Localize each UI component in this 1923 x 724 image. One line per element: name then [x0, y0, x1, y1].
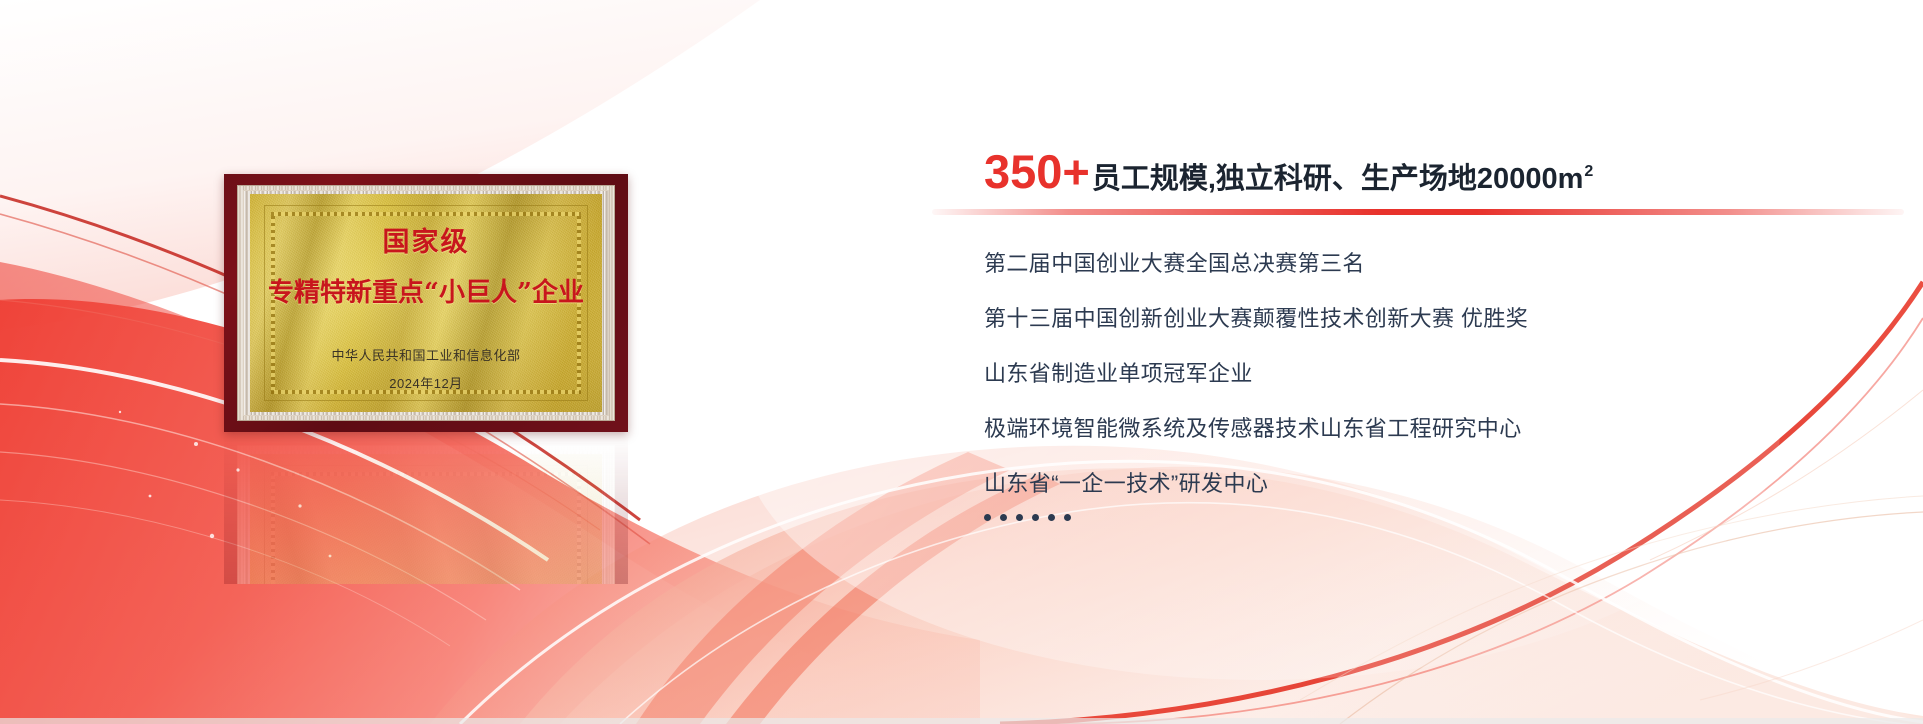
honors-text-column: 350+ 员工规模,独立科研、生产场地20000m 2 第二届中国创业大赛全国总… — [984, 148, 1884, 521]
ellipsis-dot — [1064, 514, 1071, 521]
reflection-gold-plate — [250, 454, 602, 584]
reflection-outer-frame — [224, 434, 628, 584]
list-item: 山东省制造业单项冠军企业 — [984, 363, 1884, 385]
headline: 350+ 员工规模,独立科研、生产场地20000m 2 — [984, 148, 1884, 195]
list-item: 第二届中国创业大赛全国总决赛第三名 — [984, 253, 1884, 275]
list-item: 第十三届中国创新创业大赛颠覆性技术创新大赛 优胜奖 — [984, 308, 1884, 330]
plaque-title-line-2: 专精特新重点“小巨人”企业 — [268, 272, 584, 309]
headline-underline-rule — [932, 209, 1904, 215]
ellipsis-dot — [1000, 514, 1007, 521]
ellipsis-dot — [984, 514, 991, 521]
achievement-list-ellipsis — [984, 514, 1884, 521]
headline-superscript: 2 — [1584, 163, 1593, 181]
achievement-list: 第二届中国创业大赛全国总决赛第三名 第十三届中国创新创业大赛颠覆性技术创新大赛 … — [984, 253, 1884, 495]
reflection-silver-border — [237, 445, 615, 584]
honors-banner: 国家级 专精特新重点“小巨人”企业 中华人民共和国工业和信息化部 2024年12… — [0, 0, 1923, 724]
ellipsis-dot — [1016, 514, 1023, 521]
reflection-gold-texture — [250, 454, 602, 584]
headline-metric-text: 员工规模,独立科研、生产场地20000m — [1092, 165, 1584, 194]
ellipsis-dot — [1032, 514, 1039, 521]
plaque-reflection — [224, 434, 628, 584]
headline-metric-number: 350+ — [984, 148, 1090, 195]
list-item: 山东省“一企一技术”研发中心 — [984, 473, 1884, 495]
reflection-inner-border — [264, 465, 588, 584]
plaque-date: 2024年12月 — [389, 373, 462, 392]
plaque-issuer: 中华人民共和国工业和信息化部 — [331, 345, 520, 364]
plaque-title-line-1: 国家级 — [383, 220, 470, 259]
list-item: 极端环境智能微系统及传感器技术山东省工程研究中心 — [984, 418, 1884, 440]
award-plaque: 国家级 专精特新重点“小巨人”企业 中华人民共和国工业和信息化部 2024年12… — [224, 174, 628, 432]
ellipsis-dot — [1048, 514, 1055, 521]
plaque-outer-frame: 国家级 专精特新重点“小巨人”企业 中华人民共和国工业和信息化部 2024年12… — [224, 174, 628, 432]
